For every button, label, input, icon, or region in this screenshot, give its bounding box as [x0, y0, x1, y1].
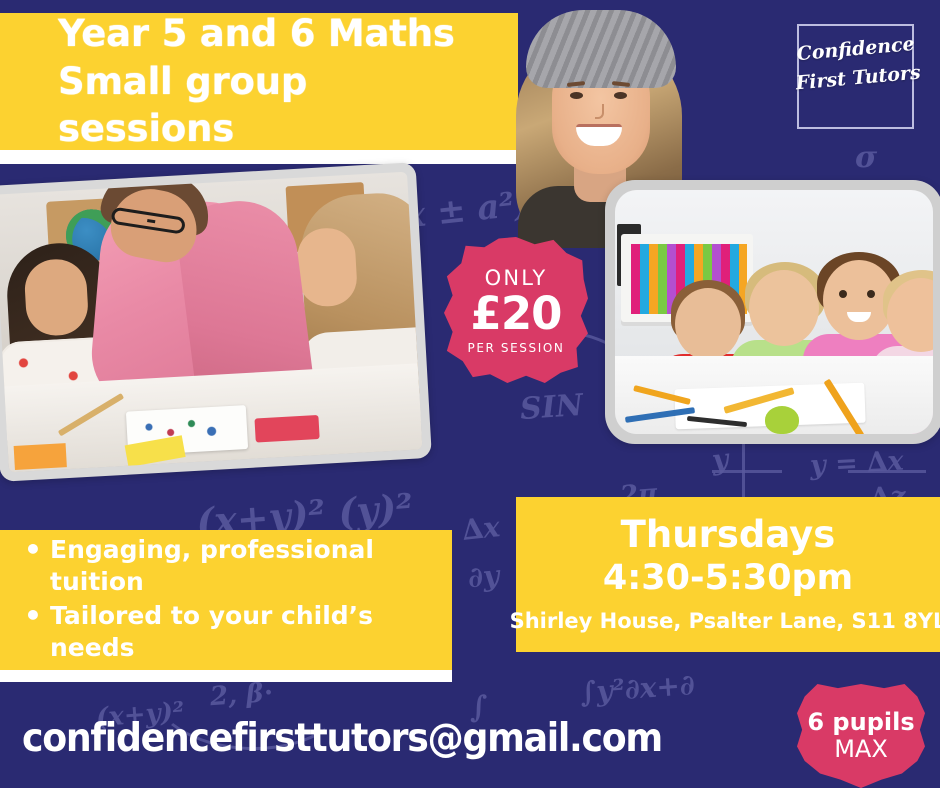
pupil-three-eye-left	[839, 290, 847, 298]
math-doodle: ∂y	[467, 559, 501, 595]
pupil-one-face	[675, 288, 741, 360]
apple-icon	[765, 406, 799, 434]
schedule-address: Shirley House, Psalter Lane, S11 8YL	[510, 609, 940, 633]
features-banner: Engaging, professional tuition Tailored …	[0, 530, 452, 670]
tutoring-session-photo-inner	[0, 172, 422, 473]
tutoring-session-photo	[0, 162, 432, 482]
heading-line-1: Year 5 and 6 Maths	[58, 10, 484, 57]
math-fraction-bar	[848, 470, 926, 473]
list-item: Engaging, professional tuition	[14, 534, 436, 598]
math-doodle: ∆x	[460, 510, 501, 547]
portrait-headband	[526, 10, 676, 88]
features-list: Engaging, professional tuition Tailored …	[14, 534, 436, 666]
list-item: Tailored to your child’s needs	[14, 600, 436, 664]
schedule-day: Thursdays	[621, 516, 836, 555]
pupil-three-eye-right	[867, 290, 875, 298]
portrait-nose	[595, 104, 604, 119]
max-pupils-label: MAX	[834, 736, 888, 763]
logo-wordmark: Confidence First Tutors	[785, 29, 930, 100]
math-doodle: 2, β⋅	[209, 678, 275, 712]
portrait-eye-left	[570, 92, 583, 99]
heading-line-2: Small group sessions	[58, 58, 484, 153]
price-badge-amount: £20	[471, 291, 562, 336]
red-notebook	[254, 415, 319, 443]
price-badge: ONLY £20 PER SESSION	[444, 237, 588, 383]
bullets-shadow-strip	[0, 670, 452, 682]
heading-banner: Year 5 and 6 Maths Small group sessions	[0, 13, 518, 150]
max-pupils-badge: 6 pupils MAX	[797, 684, 925, 788]
contact-email[interactable]: confidencefirsttutors@gmail.com	[22, 716, 662, 761]
math-doodle: SIN	[519, 388, 584, 427]
pupils-writing-photo-inner	[615, 190, 933, 434]
price-badge-per-label: PER SESSION	[468, 341, 565, 355]
math-doodle: ∫y²∂x+∂	[579, 668, 696, 709]
math-doodle: σ	[855, 140, 877, 175]
sticky-note-orange	[14, 443, 67, 470]
schedule-banner: Thursdays 4:30-5:30pm Shirley House, Psa…	[516, 497, 940, 652]
pupil-three-smile	[847, 312, 871, 322]
math-axis-horizontal	[712, 470, 782, 473]
pupil-two-face	[749, 270, 819, 346]
math-doodle: y	[710, 442, 730, 477]
student-two-face	[296, 227, 358, 308]
pupils-writing-photo	[605, 180, 940, 444]
math-doodle: y = ∆x	[809, 446, 904, 482]
schedule-time: 4:30-5:30pm	[603, 557, 853, 599]
max-pupils-count: 6 pupils	[807, 709, 914, 736]
poster-root: x ± a²)σSIN∆x∂y2π(x+y)² (y)²yy = ∆x∆zy2,…	[0, 0, 940, 788]
student-one-face	[23, 258, 89, 337]
price-badge-only-label: ONLY	[485, 266, 548, 290]
portrait-eye-right	[614, 92, 627, 99]
